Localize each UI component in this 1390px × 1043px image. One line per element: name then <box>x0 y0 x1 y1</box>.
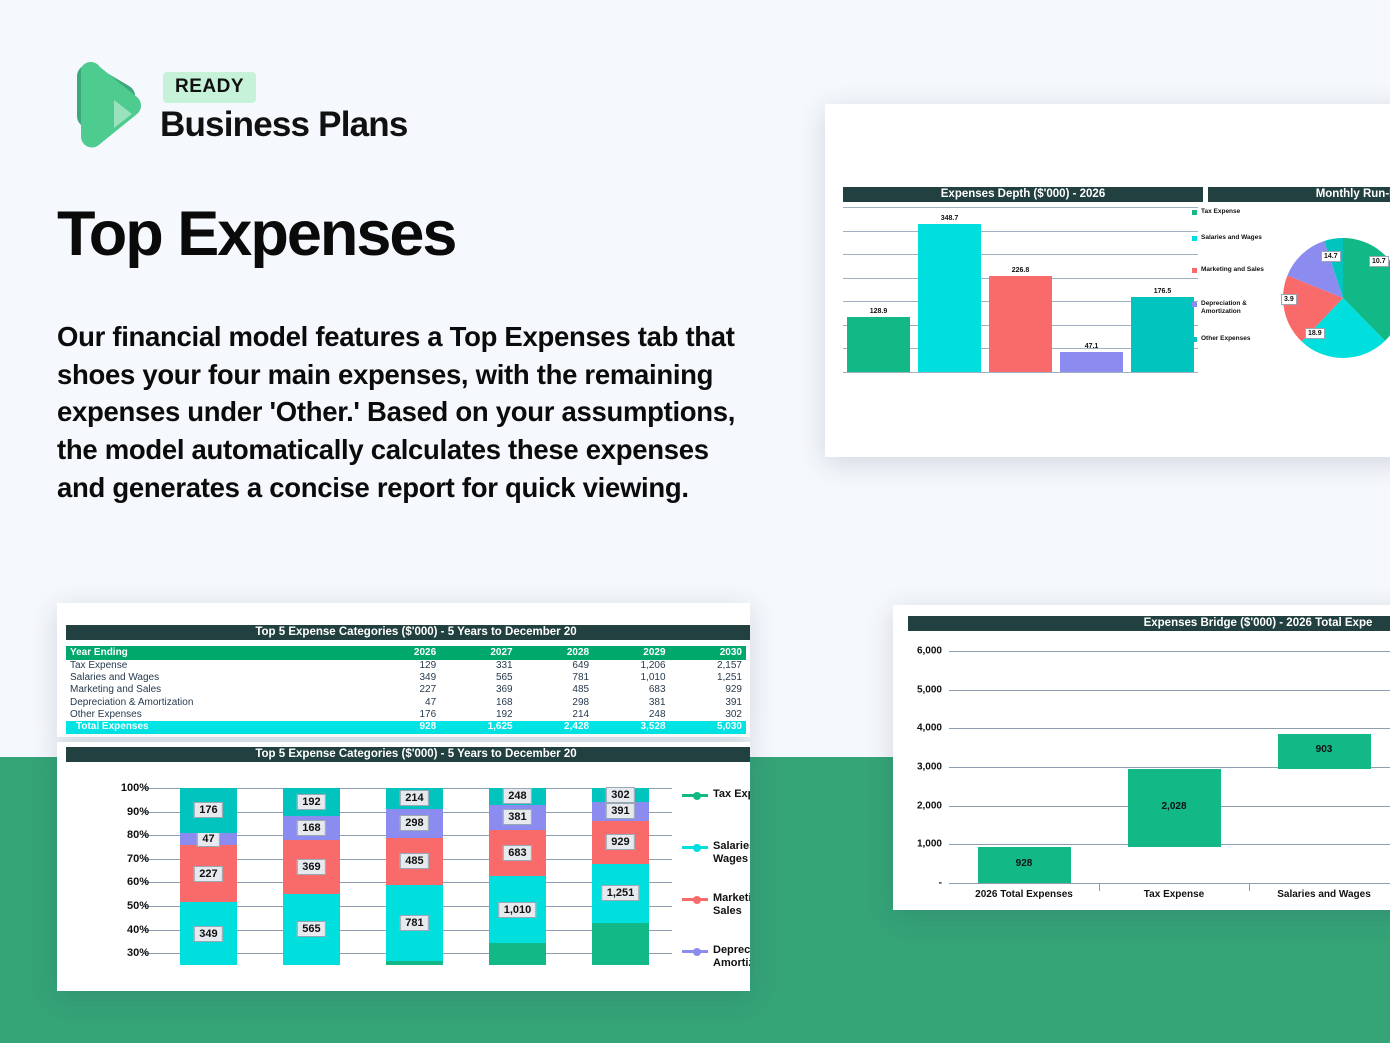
waterfall-bar: 903 <box>1278 734 1371 769</box>
legend-item: Tax Expense <box>1192 208 1268 216</box>
bar-4 <box>1060 352 1123 372</box>
bar-value-label: 348.7 <box>914 215 985 222</box>
segment-value-label: 192 <box>297 794 325 810</box>
legend-swatch <box>1192 337 1197 342</box>
legend-label: Tax Expense <box>713 788 750 801</box>
legend-label: Marketing and Sales <box>1201 266 1264 273</box>
gridline <box>949 883 1390 884</box>
segment-value-label: 248 <box>503 788 531 804</box>
row-value: 129 <box>370 660 440 672</box>
row-value: 391 <box>670 697 746 709</box>
row-value: 47 <box>370 697 440 709</box>
legend-label: Marketing and Sales <box>713 892 750 918</box>
total-value: 2,428 <box>517 721 593 734</box>
expenses-depth-title: Expenses Depth ($'000) - 2026 <box>843 187 1203 202</box>
top5-expense-table: Year Ending20262027202820292030 Tax Expe… <box>66 646 746 734</box>
segment-value-label: 781 <box>400 915 428 931</box>
pie-value-label: 3.9 <box>1281 294 1297 305</box>
row-value: 781 <box>517 672 593 684</box>
row-value: 227 <box>370 684 440 696</box>
stacked-chart-title: Top 5 Expense Categories ($'000) - 5 Yea… <box>66 747 750 762</box>
row-value: 349 <box>370 672 440 684</box>
row-label: Other Expenses <box>66 709 370 721</box>
legend-item: Other Expenses <box>1192 335 1268 343</box>
y-axis-label: 2,000 <box>917 800 942 811</box>
waterfall-bar: 2,028 <box>1128 769 1221 847</box>
table-row: Salaries and Wages3495657811,0101,251 <box>66 672 746 684</box>
segment-value-label: 1,010 <box>499 902 537 918</box>
bar-value-label: 47.1 <box>1056 343 1127 350</box>
y-axis-label: 40% <box>127 924 149 936</box>
stacked-column: 781485298214 <box>386 788 443 965</box>
monthly-run-rate-title: Monthly Run-Rate ($'000) - <box>1208 187 1390 202</box>
table-row: Other Expenses176192214248302 <box>66 709 746 721</box>
pie-value-label: 18.9 <box>1305 328 1325 339</box>
bar-value-label: 128.9 <box>843 308 914 315</box>
y-axis-label: 1,000 <box>917 839 942 850</box>
segment-value-label: 565 <box>297 921 325 937</box>
page-description: Our financial model features a Top Expen… <box>57 318 757 506</box>
y-axis-label: 70% <box>127 853 149 865</box>
row-value: 2,157 <box>670 660 746 672</box>
stacked-column: 565369168192 <box>283 788 340 965</box>
table-row: Tax Expense1293316491,2062,157 <box>66 660 746 672</box>
y-axis-label: 100% <box>121 782 149 794</box>
segment-value-label: 349 <box>194 926 222 942</box>
row-value: 298 <box>517 697 593 709</box>
bar-value-label: 176.5 <box>1127 288 1198 295</box>
stack-segment-tax-expense <box>386 961 443 965</box>
waterfall-value-label: 903 <box>1316 744 1333 755</box>
axis-separator <box>1249 883 1250 891</box>
gridline <box>843 207 1198 208</box>
segment-value-label: 1,251 <box>602 885 640 901</box>
legend-item: Salaries and Wages <box>682 840 750 866</box>
total-value: 928 <box>370 721 440 734</box>
segment-value-label: 369 <box>297 859 325 875</box>
brand-logo-block: READY Business Plans <box>57 52 457 162</box>
play-logo-icon <box>57 52 149 157</box>
legend-swatch <box>1192 302 1197 307</box>
bar-value-label: 226.8 <box>985 267 1056 274</box>
legend-marker <box>693 792 701 800</box>
segment-value-label: 176 <box>194 802 222 818</box>
x-axis-label: Tax Expense <box>1144 889 1204 900</box>
table-col-2028: 2028 <box>517 646 593 660</box>
table-body: Tax Expense1293316491,2062,157Salaries a… <box>66 660 746 721</box>
segment-value-label: 168 <box>297 820 325 836</box>
segment-value-label: 391 <box>606 803 634 819</box>
row-value: 683 <box>593 684 669 696</box>
row-value: 649 <box>517 660 593 672</box>
legend-item: Tax Expense <box>682 788 750 801</box>
legend-label: Other Expenses <box>1201 335 1251 342</box>
waterfall-value-label: 2,028 <box>1161 801 1186 812</box>
table-header-row: Year Ending20262027202820292030 <box>66 646 746 660</box>
y-axis-label: 60% <box>127 876 149 888</box>
table-title: Top 5 Expense Categories ($'000) - 5 Yea… <box>66 625 750 640</box>
segment-value-label: 683 <box>503 845 531 861</box>
legend-swatch <box>1192 268 1197 273</box>
y-axis-label: 3,000 <box>917 762 942 773</box>
row-value: 1,010 <box>593 672 669 684</box>
table-row: Depreciation & Amortization4716829838139… <box>66 697 746 709</box>
row-value: 214 <box>517 709 593 721</box>
expenses-bridge-card: Expenses Bridge ($'000) - 2026 Total Exp… <box>893 605 1390 910</box>
gridline <box>843 254 1198 255</box>
row-value: 1,206 <box>593 660 669 672</box>
total-label: Total Expenses <box>66 721 370 734</box>
legend-label: Salaries and Wages <box>713 840 750 866</box>
total-value: 1,625 <box>440 721 516 734</box>
row-value: 176 <box>370 709 440 721</box>
total-value: 3,528 <box>593 721 669 734</box>
row-value: 485 <box>517 684 593 696</box>
segment-value-label: 929 <box>606 834 634 850</box>
legend-item: Marketing and Sales <box>1192 266 1268 274</box>
segment-value-label: 47 <box>197 831 219 847</box>
segment-value-label: 381 <box>503 809 531 825</box>
stacked-chart-plot: 100%90%80%70%60%50%40%30%349227471765653… <box>157 788 672 965</box>
y-axis-label: 5,000 <box>917 684 942 695</box>
segment-value-label: 302 <box>606 787 634 803</box>
monthly-run-rate-pie: 10.714.73.918.9 <box>1273 228 1390 368</box>
row-label: Marketing and Sales <box>66 684 370 696</box>
bar-5 <box>1131 297 1194 372</box>
table-row: Marketing and Sales227369485683929 <box>66 684 746 696</box>
expenses-depth-plot: 128.9348.7226.847.1176.5 <box>843 207 1198 380</box>
row-label: Tax Expense <box>66 660 370 672</box>
table-col-2026: 2026 <box>370 646 440 660</box>
ready-badge: READY <box>163 72 256 103</box>
row-value: 369 <box>440 684 516 696</box>
table-col-2027: 2027 <box>440 646 516 660</box>
legend-marker <box>693 896 701 904</box>
legend-marker <box>693 948 701 956</box>
gridline <box>843 372 1198 373</box>
row-value: 1,251 <box>670 672 746 684</box>
legend-marker <box>693 844 701 852</box>
stack-segment-tax-expense <box>489 943 546 965</box>
stack-segment-tax-expense <box>592 923 649 965</box>
row-value: 381 <box>593 697 669 709</box>
stacked-column: 34922747176 <box>180 788 237 965</box>
page-title: Top Expenses <box>57 203 455 266</box>
waterfall-title: Expenses Bridge ($'000) - 2026 Total Exp… <box>908 616 1390 631</box>
gridline <box>949 690 1390 691</box>
waterfall-bar: 928 <box>978 847 1071 883</box>
row-label: Salaries and Wages <box>66 672 370 684</box>
legend-swatch <box>1192 236 1197 241</box>
bar-3 <box>989 276 1052 372</box>
row-value: 565 <box>440 672 516 684</box>
stacked-column: 1,251929391302 <box>592 788 649 965</box>
expenses-depth-card: Expenses Depth ($'000) - 2026 Monthly Ru… <box>825 104 1390 457</box>
top5-expense-table-card: Top 5 Expense Categories ($'000) - 5 Yea… <box>57 603 750 737</box>
brand-name: Business Plans <box>160 105 408 145</box>
segment-value-label: 298 <box>400 815 428 831</box>
y-axis-label: 4,000 <box>917 723 942 734</box>
y-axis-label: 6,000 <box>917 646 942 657</box>
legend-item: Marketing and Sales <box>682 892 750 918</box>
segment-value-label: 227 <box>194 866 222 882</box>
row-value: 302 <box>670 709 746 721</box>
x-axis-label: 2026 Total Expenses <box>975 889 1073 900</box>
waterfall-value-label: 928 <box>1016 858 1033 869</box>
table-col-2029: 2029 <box>593 646 669 660</box>
axis-separator <box>1099 883 1100 891</box>
table-col-2030: 2030 <box>670 646 746 660</box>
x-axis-label: Salaries and Wages <box>1277 889 1371 900</box>
bar-1 <box>847 317 910 372</box>
bar-2 <box>918 224 981 372</box>
y-axis-label: 30% <box>127 947 149 959</box>
y-axis-label: - <box>939 878 942 889</box>
segment-value-label: 485 <box>400 853 428 869</box>
y-axis-label: 80% <box>127 829 149 841</box>
row-value: 192 <box>440 709 516 721</box>
legend-item: Depreciation & Amortization <box>682 944 750 970</box>
pie-value-label: 14.7 <box>1321 251 1341 262</box>
row-value: 168 <box>440 697 516 709</box>
table-col-label: Year Ending <box>66 646 370 660</box>
table-total-row: Total Expenses9281,6252,4283,5285,030 <box>66 721 746 734</box>
gridline <box>843 231 1198 232</box>
top5-stacked-chart-card: Top 5 Expense Categories ($'000) - 5 Yea… <box>57 742 750 991</box>
gridline <box>949 728 1390 729</box>
legend-item: Salaries and Wages <box>1192 234 1268 242</box>
total-value: 5,030 <box>670 721 746 734</box>
legend-label: Salaries and Wages <box>1201 234 1262 241</box>
row-label: Depreciation & Amortization <box>66 697 370 709</box>
row-value: 248 <box>593 709 669 721</box>
y-axis-label: 50% <box>127 900 149 912</box>
gridline <box>949 651 1390 652</box>
y-axis-label: 90% <box>127 806 149 818</box>
legend-swatch <box>1192 210 1197 215</box>
legend-label: Depreciation & Amortization <box>1201 300 1247 315</box>
pie-value-label: 10.7 <box>1369 256 1389 267</box>
row-value: 331 <box>440 660 516 672</box>
row-value: 929 <box>670 684 746 696</box>
legend-label: Depreciation & Amortization <box>713 944 750 970</box>
legend-item: Depreciation & Amortization <box>1192 300 1268 316</box>
stacked-column: 1,010683381248 <box>489 788 546 965</box>
segment-value-label: 214 <box>400 790 428 806</box>
waterfall-plot: 6,0005,0004,0003,0002,0001,000-9282026 T… <box>949 651 1390 883</box>
legend-label: Tax Expense <box>1201 208 1240 215</box>
